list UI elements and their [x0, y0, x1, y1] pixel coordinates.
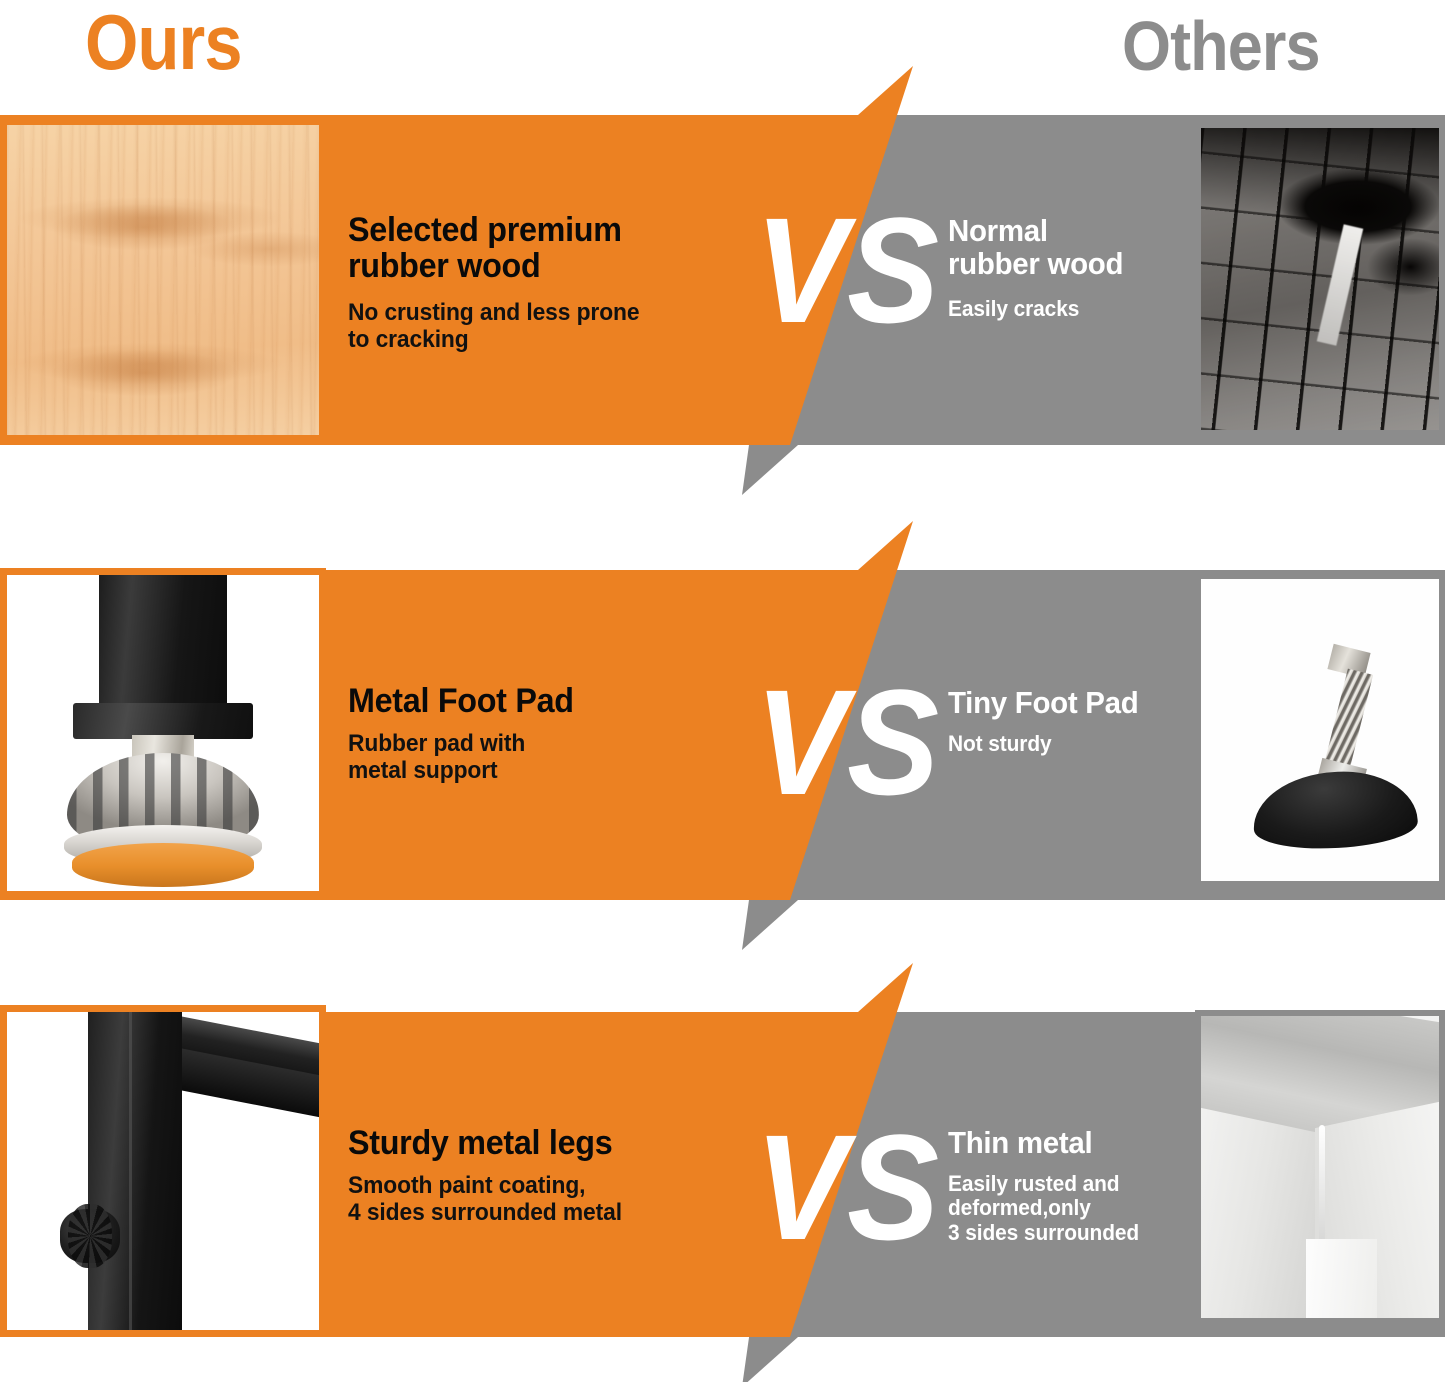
- row-2-ours-text: Metal Foot Pad Rubber pad with metal sup…: [348, 683, 718, 785]
- steel-corner-image: [1201, 1016, 1439, 1318]
- row-1-others-heading-line1: Normal: [948, 215, 1195, 248]
- row-1-ours-text: Selected premium rubber wood No crusting…: [348, 212, 718, 354]
- leg-vertical-post-shape: [88, 1012, 182, 1330]
- row-2-ours-heading-line1: Metal Foot Pad: [348, 683, 700, 719]
- row-3-ours-text: Sturdy metal legs Smooth paint coating, …: [348, 1125, 738, 1227]
- row-1-others-sub-line1: Easily cracks: [948, 297, 1195, 322]
- row-2-ours-sub-line2: metal support: [348, 758, 700, 785]
- row-3-ours-heading-line1: Sturdy metal legs: [348, 1125, 719, 1161]
- row-3-others-sub-line1: Easily rusted and: [948, 1172, 1205, 1197]
- steel-leg-shape: [1306, 1239, 1377, 1318]
- thin-metal-corner-photo: [1195, 1010, 1445, 1324]
- row-1-others-heading-line2: rubber wood: [948, 248, 1195, 281]
- row-1-ours-sub-line2: to cracking: [348, 327, 700, 354]
- rubber-base-shape: [1251, 768, 1419, 852]
- metal-foot-pad-photo: [0, 568, 326, 898]
- cracked-wood-image: [1201, 128, 1439, 430]
- row-3-ours-sub-line1: Smooth paint coating,: [348, 1173, 719, 1200]
- row-2-others-text: Tiny Foot Pad Not sturdy: [948, 687, 1208, 756]
- comparison-row-3: Sturdy metal legs Smooth paint coating, …: [0, 897, 1445, 1382]
- tiny-foot-pad-image: [1201, 579, 1439, 881]
- row-1-ours-heading-line1: Selected premium: [348, 212, 700, 248]
- comparison-row-2: Metal Foot Pad Rubber pad with metal sup…: [0, 455, 1445, 955]
- black-leg-shape: [99, 575, 227, 711]
- row-3-ours-sub-line2: 4 sides surrounded metal: [348, 1200, 719, 1227]
- cracked-wood-photo: [1195, 122, 1445, 436]
- row-3-others-sub-line2: deformed,only: [948, 1196, 1205, 1221]
- metal-foot-pad-image: [7, 575, 319, 891]
- wood-grain-image: [7, 125, 319, 435]
- row-2-ours-sub-line1: Rubber pad with: [348, 731, 700, 758]
- sturdy-metal-legs-photo: [0, 1005, 326, 1337]
- orange-rubber-base-shape: [72, 843, 254, 887]
- row-3-others-text: Thin metal Easily rusted and deformed,on…: [948, 1127, 1218, 1246]
- leg-flange-shape: [73, 703, 253, 739]
- comparison-infographic: Ours Others Selected premium rubber wood: [0, 0, 1445, 1382]
- row-2-others-sub-line1: Not sturdy: [948, 732, 1195, 757]
- adjust-knob-shape: [60, 1209, 120, 1263]
- metal-legs-image: [7, 1012, 319, 1330]
- steel-left-face-shape: [1201, 1105, 1320, 1318]
- row-3-others-sub-line3: 3 sides surrounded: [948, 1221, 1205, 1246]
- tiny-foot-pad-photo: [1195, 573, 1445, 887]
- row-1-ours-heading-line2: rubber wood: [348, 248, 700, 284]
- row-1-others-text: Normal rubber wood Easily cracks: [948, 215, 1208, 321]
- premium-rubber-wood-photo: [0, 118, 326, 442]
- row-3-others-heading-line1: Thin metal: [948, 1127, 1205, 1160]
- comparison-row-1: Selected premium rubber wood No crusting…: [0, 0, 1445, 500]
- row-2-others-heading-line1: Tiny Foot Pad: [948, 687, 1195, 720]
- row-1-ours-sub-line1: No crusting and less prone: [348, 300, 700, 327]
